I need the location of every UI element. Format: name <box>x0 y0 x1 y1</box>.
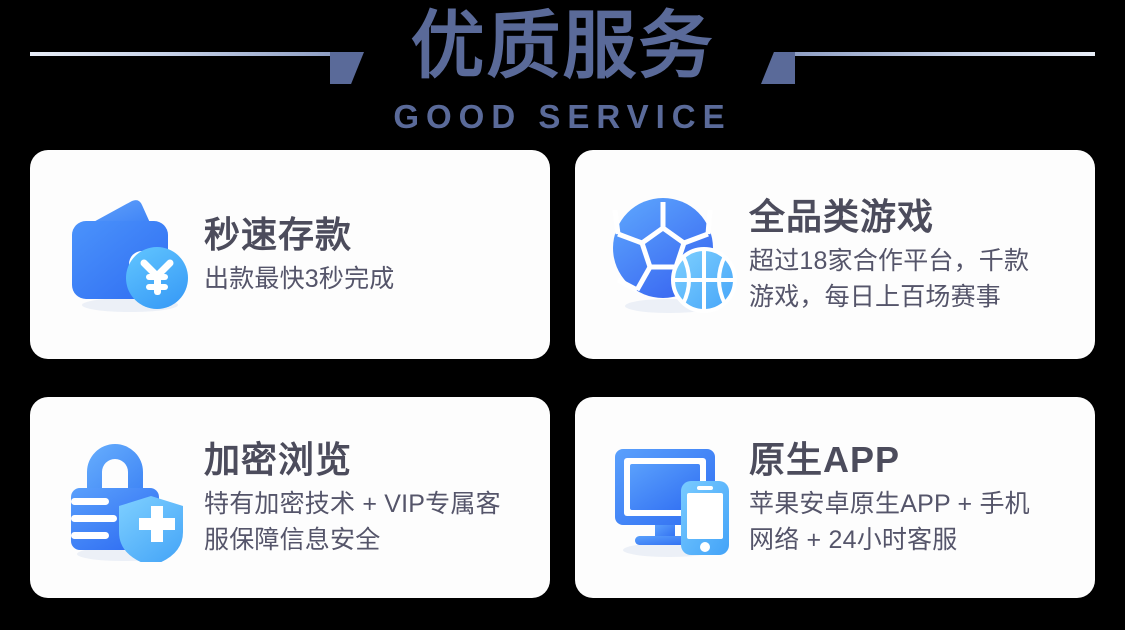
promo-banner: 优质服务 GOOD SERVICE <box>0 0 1125 630</box>
card-subtitle-line: 超过18家合作平台，千款 <box>749 243 1073 279</box>
page-subtitle: GOOD SERVICE <box>0 98 1125 136</box>
feature-card-grid: 秒速存款 出款最快3秒完成 <box>30 150 1095 600</box>
card-title: 全品类游戏 <box>749 195 1073 239</box>
card-subtitle: 超过18家合作平台，千款 游戏，每日上百场赛事 <box>749 243 1073 315</box>
lock-shield-icon <box>58 428 198 568</box>
card-title: 加密浏览 <box>204 438 528 482</box>
feature-card-deposit[interactable]: 秒速存款 出款最快3秒完成 <box>30 150 550 359</box>
card-title: 秒速存款 <box>204 213 528 257</box>
wallet-yen-icon <box>58 185 198 325</box>
feature-card-text: 全品类游戏 超过18家合作平台，千款 游戏，每日上百场赛事 <box>743 195 1073 315</box>
card-subtitle-line: 特有加密技术 + VIP专属客 <box>204 486 528 522</box>
card-subtitle-line: 苹果安卓原生APP + 手机 <box>749 486 1073 522</box>
feature-card-text: 加密浏览 特有加密技术 + VIP专属客 服保障信息安全 <box>198 438 528 558</box>
monitor-phone-icon <box>603 428 743 568</box>
card-subtitle-line: 游戏，每日上百场赛事 <box>749 279 1073 315</box>
card-subtitle: 出款最快3秒完成 <box>204 261 528 297</box>
card-subtitle-line: 网络 + 24小时客服 <box>749 522 1073 558</box>
page-title: 优质服务 <box>0 4 1125 88</box>
card-subtitle: 苹果安卓原生APP + 手机 网络 + 24小时客服 <box>749 486 1073 558</box>
feature-card-text: 原生APP 苹果安卓原生APP + 手机 网络 + 24小时客服 <box>743 438 1073 558</box>
card-title: 原生APP <box>749 438 1073 482</box>
feature-card-native-app[interactable]: 原生APP 苹果安卓原生APP + 手机 网络 + 24小时客服 <box>575 397 1095 598</box>
card-subtitle-line: 服保障信息安全 <box>204 522 528 558</box>
banner-header: 优质服务 GOOD SERVICE <box>0 0 1125 144</box>
soccer-basketball-icon <box>603 185 743 325</box>
card-subtitle-line: 出款最快3秒完成 <box>204 261 528 297</box>
card-subtitle: 特有加密技术 + VIP专属客 服保障信息安全 <box>204 486 528 558</box>
feature-card-games[interactable]: 全品类游戏 超过18家合作平台，千款 游戏，每日上百场赛事 <box>575 150 1095 359</box>
feature-card-encryption[interactable]: 加密浏览 特有加密技术 + VIP专属客 服保障信息安全 <box>30 397 550 598</box>
feature-card-text: 秒速存款 出款最快3秒完成 <box>198 213 528 297</box>
